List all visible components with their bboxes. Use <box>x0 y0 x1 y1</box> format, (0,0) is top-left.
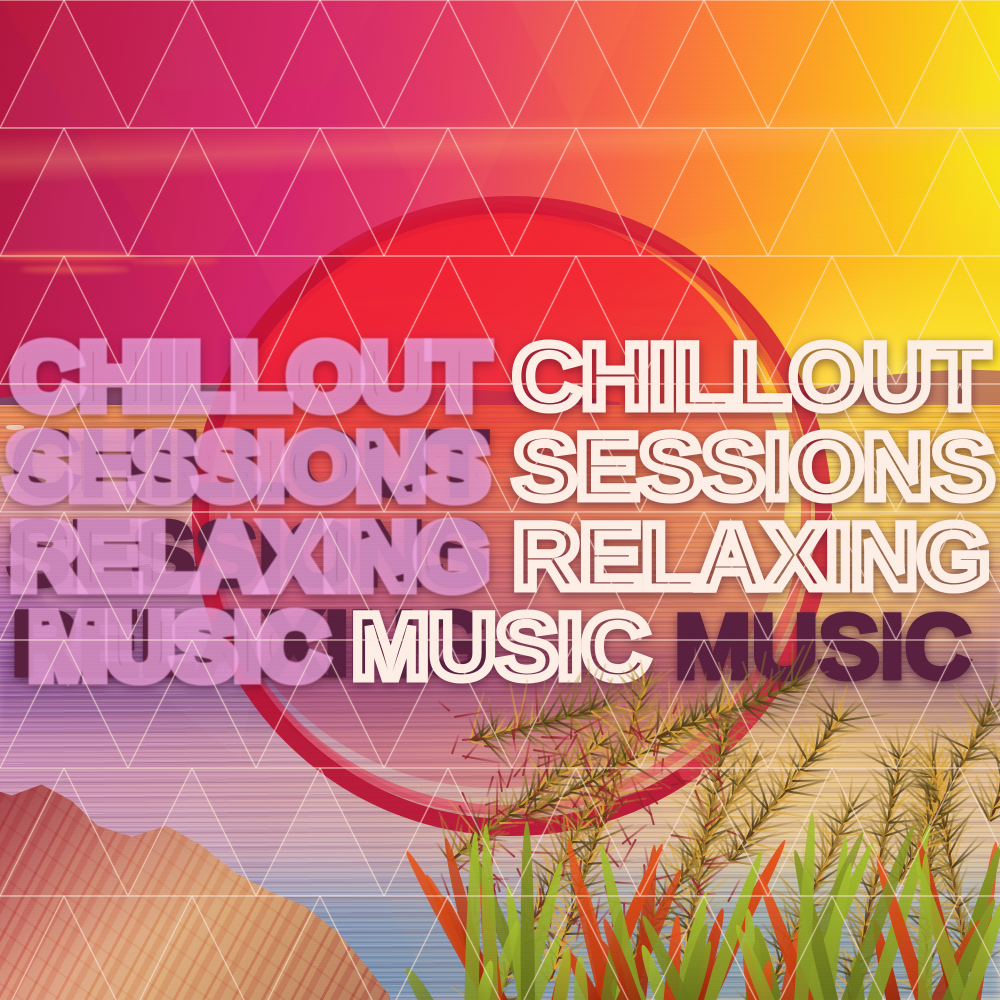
film-grain <box>0 0 1000 1000</box>
album-cover-artwork: CHILLOUT CHILLOUT CHILLOUT CHILLOUT SESS… <box>0 0 1000 1000</box>
